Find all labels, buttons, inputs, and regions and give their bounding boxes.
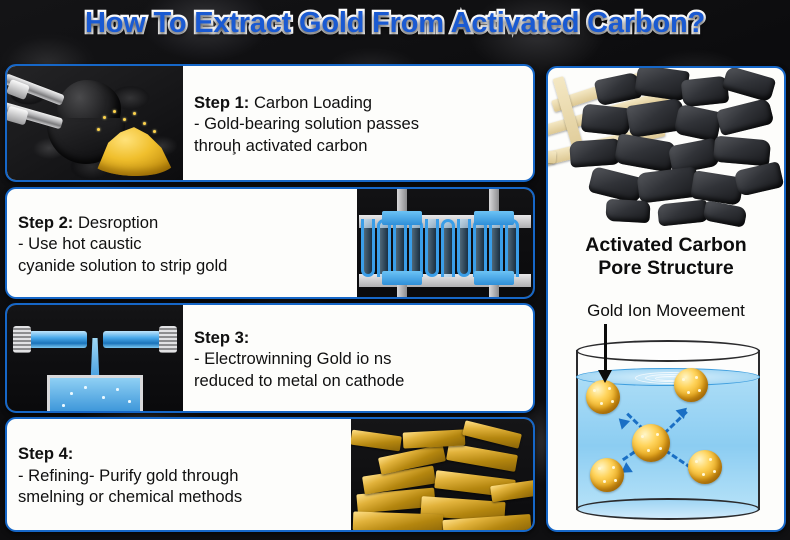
step-3-label: Step 3: bbox=[194, 328, 249, 347]
step-3-line3: reduced to metal on cathode bbox=[194, 370, 527, 392]
flange-left bbox=[13, 326, 31, 353]
step-3-line2: - Electrowinning Gold io ns bbox=[194, 348, 527, 370]
gold-bars-photo bbox=[351, 419, 533, 530]
page-title: How To Extract Gold From Activated Carbo… bbox=[0, 7, 790, 40]
beaker-base bbox=[576, 498, 760, 520]
step-3-text: Step 3: - Electrowinning Gold io ns redu… bbox=[183, 305, 533, 411]
step-4-line3: smelning or chemical methods bbox=[18, 486, 345, 508]
step-card-4[interactable]: Step 4: - Refining- Purify gold through … bbox=[5, 417, 535, 532]
desorption-coil-diagram bbox=[357, 189, 533, 297]
step-4-line2: - Refining- Purify gold through bbox=[18, 465, 345, 487]
step-1-line2: - Gold-bearing solution passes bbox=[194, 113, 527, 135]
step-2-heading: Desroption bbox=[73, 213, 158, 232]
carbon-gold-scoop-photo bbox=[7, 66, 183, 180]
step-1-line3: throuḩ activated carbon bbox=[194, 135, 527, 157]
step-2-label: Step 2: bbox=[18, 213, 73, 232]
pipe-left bbox=[29, 331, 87, 348]
pore-title-line-2: Pore Structure bbox=[548, 257, 784, 280]
pipe-right bbox=[103, 331, 161, 348]
electrowinning-pipes-diagram bbox=[7, 305, 183, 411]
step-card-3[interactable]: Step 3: - Electrowinning Gold io ns redu… bbox=[5, 303, 535, 413]
pore-structure-title: Activated Carbon Pore Structure bbox=[548, 234, 784, 280]
pore-title-line-1: Activated Carbon bbox=[548, 234, 784, 257]
pore-structure-panel[interactable]: Activated Carbon Pore Structure Gold Ion… bbox=[546, 66, 786, 532]
step-card-1[interactable]: Step 1: Carbon Loading - Gold-bearing so… bbox=[5, 64, 535, 182]
step-1-text: Step 1: Carbon Loading - Gold-bearing so… bbox=[183, 66, 533, 180]
step-1-label: Step 1: bbox=[194, 93, 249, 112]
step-1-heading: Carbon Loading bbox=[249, 93, 372, 112]
coil-tubes bbox=[359, 219, 531, 277]
gold-ion-center bbox=[632, 424, 670, 462]
step-2-text: Step 2: Desroption - Use hot caustic cya… bbox=[7, 189, 357, 297]
gold-ion bbox=[590, 458, 624, 492]
down-arrow-icon bbox=[604, 324, 607, 372]
step-2-line2: - Use hot caustic bbox=[18, 233, 351, 255]
step-4-label: Step 4: bbox=[18, 444, 73, 463]
gold-ion-movement-label: Gold Ion Moveement bbox=[548, 301, 784, 321]
gold-ion bbox=[674, 368, 708, 402]
step-4-text: Step 4: - Refining- Purify gold through … bbox=[7, 419, 351, 530]
activated-carbon-charcoal-photo bbox=[546, 66, 786, 232]
flange-right bbox=[159, 326, 177, 353]
gold-ion bbox=[688, 450, 722, 484]
step-card-2[interactable]: Step 2: Desroption - Use hot caustic cya… bbox=[5, 187, 535, 299]
collection-tank bbox=[47, 375, 143, 411]
gold-ion bbox=[586, 380, 620, 414]
step-2-line3: cyanide solution to strip gold bbox=[18, 255, 351, 277]
